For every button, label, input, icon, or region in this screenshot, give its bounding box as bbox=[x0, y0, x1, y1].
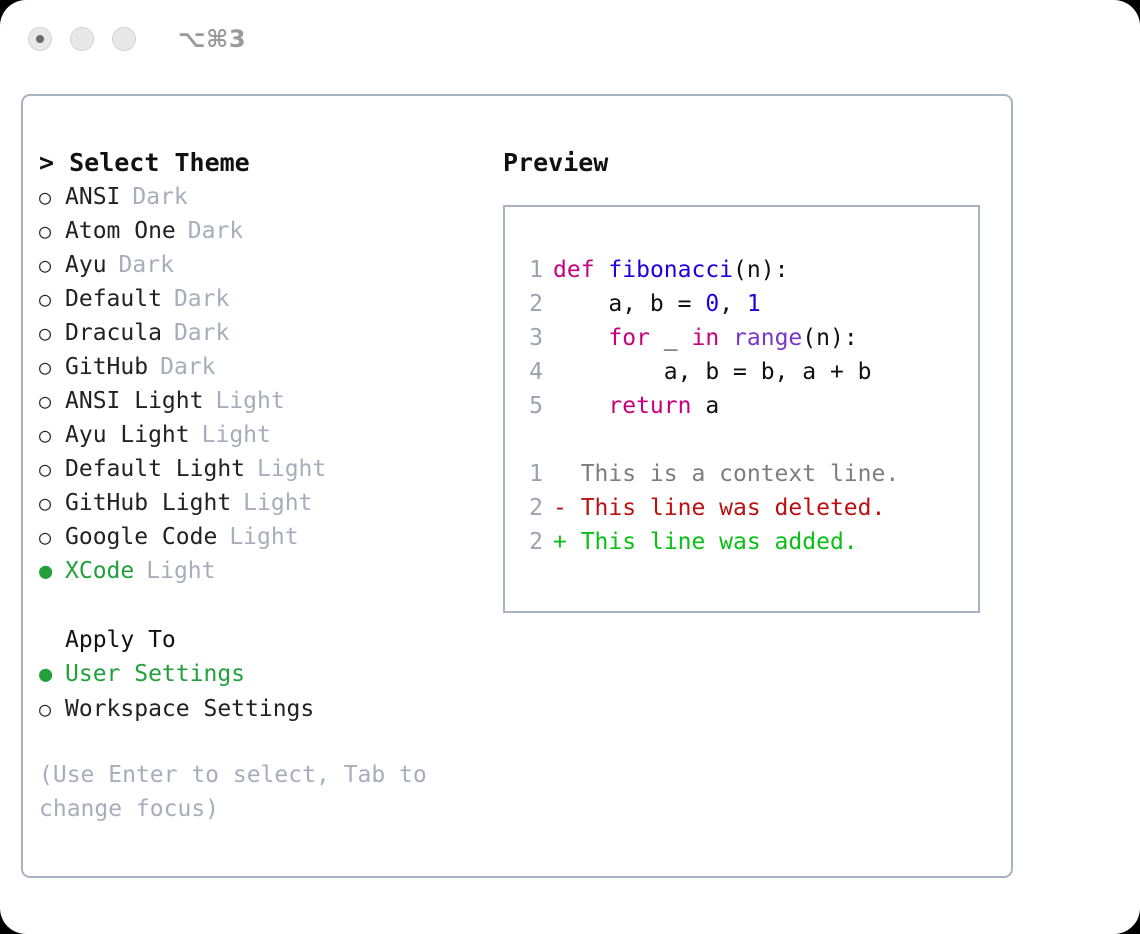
diff-sample: 1 This is a context line.2- This line wa… bbox=[513, 457, 978, 559]
diff-text: + This line was added. bbox=[553, 525, 858, 559]
code-token-plain: , bbox=[719, 291, 747, 317]
code-token-plain bbox=[553, 393, 608, 419]
code-line: 3 for _ in range(n): bbox=[513, 321, 978, 355]
theme-option-label: ANSI bbox=[65, 180, 120, 214]
apply-to-section: Apply To ●User Settings○Workspace Settin… bbox=[39, 623, 494, 726]
apply-to-list: ●User Settings○Workspace Settings bbox=[39, 657, 494, 726]
radio-unselected-icon: ○ bbox=[39, 282, 65, 316]
window-controls bbox=[28, 27, 136, 51]
radio-unselected-icon: ○ bbox=[39, 180, 65, 214]
diff-line-ctx: 1 This is a context line. bbox=[513, 457, 978, 491]
theme-option-variant: Dark bbox=[174, 282, 229, 316]
code-spacer bbox=[513, 423, 978, 457]
radio-unselected-icon: ○ bbox=[39, 418, 65, 452]
apply-to-heading: Apply To bbox=[39, 623, 494, 657]
code-line: 5 return a bbox=[513, 389, 978, 423]
theme-option-variant: Dark bbox=[188, 214, 243, 248]
theme-option-label: Google Code bbox=[65, 520, 217, 554]
radio-unselected-icon: ○ bbox=[39, 452, 65, 486]
theme-list: ○ANSIDark○Atom OneDark○AyuDark○DefaultDa… bbox=[39, 180, 494, 589]
theme-option-label: Dracula bbox=[65, 316, 162, 350]
radio-unselected-icon: ○ bbox=[39, 520, 65, 554]
line-number: 2 bbox=[513, 491, 543, 525]
line-number: 5 bbox=[513, 389, 543, 423]
theme-option-dracula[interactable]: ○DraculaDark bbox=[39, 316, 494, 350]
line-number: 2 bbox=[513, 525, 543, 559]
line-number: 1 bbox=[513, 253, 543, 287]
apply-to-option-workspace-settings[interactable]: ○Workspace Settings bbox=[39, 692, 494, 726]
theme-option-github-light[interactable]: ○GitHub LightLight bbox=[39, 486, 494, 520]
theme-option-label: XCode bbox=[65, 554, 134, 588]
select-theme-heading: > Select Theme bbox=[39, 146, 494, 180]
radio-unselected-icon: ○ bbox=[39, 316, 65, 350]
apply-to-option-label: User Settings bbox=[65, 657, 245, 691]
theme-option-label: Default bbox=[65, 282, 162, 316]
theme-option-ansi-light[interactable]: ○ANSI LightLight bbox=[39, 384, 494, 418]
code-token-plain: (n): bbox=[733, 257, 788, 283]
radio-unselected-icon: ○ bbox=[39, 248, 65, 282]
theme-option-default[interactable]: ○DefaultDark bbox=[39, 282, 494, 316]
code-token-num: 0 bbox=[705, 291, 719, 317]
theme-option-default-light[interactable]: ○Default LightLight bbox=[39, 452, 494, 486]
radio-unselected-icon: ○ bbox=[39, 214, 65, 248]
code-line: 1def fibonacci(n): bbox=[513, 253, 978, 287]
code-token-kw: in bbox=[691, 325, 719, 351]
line-number: 3 bbox=[513, 321, 543, 355]
radio-unselected-icon: ○ bbox=[39, 350, 65, 384]
diff-line-add: 2+ This line was added. bbox=[513, 525, 978, 559]
theme-option-variant: Light bbox=[146, 554, 215, 588]
theme-option-xcode[interactable]: ●XCodeLight bbox=[39, 554, 494, 589]
radio-unselected-icon: ○ bbox=[39, 486, 65, 520]
code-text: a, b = b, a + b bbox=[553, 355, 872, 389]
apply-to-option-label: Workspace Settings bbox=[65, 692, 314, 726]
radio-selected-icon: ● bbox=[39, 555, 65, 589]
theme-option-label: Ayu bbox=[65, 248, 107, 282]
code-line: 4 a, b = b, a + b bbox=[513, 355, 978, 389]
theme-option-label: Atom One bbox=[65, 214, 176, 248]
theme-option-ansi[interactable]: ○ANSIDark bbox=[39, 180, 494, 214]
theme-option-label: GitHub bbox=[65, 350, 148, 384]
window-dot-1-icon[interactable] bbox=[28, 27, 52, 51]
code-line: 2 a, b = 0, 1 bbox=[513, 287, 978, 321]
theme-option-ayu[interactable]: ○AyuDark bbox=[39, 248, 494, 282]
code-token-kw: return bbox=[608, 393, 691, 419]
diff-text: - This line was deleted. bbox=[553, 491, 885, 525]
code-token-builtin: range bbox=[733, 325, 802, 351]
theme-option-label: GitHub Light bbox=[65, 486, 231, 520]
theme-option-variant: Light bbox=[229, 520, 298, 554]
line-number: 2 bbox=[513, 287, 543, 321]
code-token-plain: (n): bbox=[802, 325, 857, 351]
theme-option-variant: Light bbox=[243, 486, 312, 520]
keyboard-hint: (Use Enter to select, Tab to change focu… bbox=[39, 758, 449, 826]
theme-option-github[interactable]: ○GitHubDark bbox=[39, 350, 494, 384]
code-token-kw: def bbox=[553, 257, 595, 283]
theme-selector-column: > Select Theme ○ANSIDark○Atom OneDark○Ay… bbox=[39, 146, 494, 826]
code-sample: 1def fibonacci(n):2 a, b = 0, 13 for _ i… bbox=[513, 253, 978, 423]
window-dot-2-icon[interactable] bbox=[70, 27, 94, 51]
preview-box: 1def fibonacci(n):2 a, b = 0, 13 for _ i… bbox=[503, 205, 980, 613]
code-token-plain: a, b = bbox=[553, 291, 705, 317]
preview-heading: Preview bbox=[503, 146, 998, 180]
theme-option-label: ANSI Light bbox=[65, 384, 203, 418]
theme-option-atom-one[interactable]: ○Atom OneDark bbox=[39, 214, 494, 248]
theme-option-variant: Dark bbox=[174, 316, 229, 350]
app-window: ⌥⌘3 > Select Theme ○ANSIDark○Atom OneDar… bbox=[0, 0, 1140, 934]
line-number: 1 bbox=[513, 457, 543, 491]
theme-option-variant: Dark bbox=[160, 350, 215, 384]
code-token-plain: _ bbox=[650, 325, 692, 351]
theme-option-variant: Light bbox=[257, 452, 326, 486]
theme-option-variant: Dark bbox=[119, 248, 174, 282]
window-title: ⌥⌘3 bbox=[178, 25, 246, 53]
code-token-plain: a, b = b, a + b bbox=[553, 359, 872, 385]
theme-option-variant: Light bbox=[202, 418, 271, 452]
code-token-plain bbox=[595, 257, 609, 283]
line-number: 4 bbox=[513, 355, 543, 389]
code-token-num: 1 bbox=[747, 291, 761, 317]
theme-option-ayu-light[interactable]: ○Ayu LightLight bbox=[39, 418, 494, 452]
radio-unselected-icon: ○ bbox=[39, 692, 65, 726]
theme-option-label: Default Light bbox=[65, 452, 245, 486]
preview-column: Preview 1def fibonacci(n):2 a, b = 0, 13… bbox=[503, 146, 998, 613]
code-token-plain: a bbox=[691, 393, 719, 419]
code-token-plain bbox=[553, 325, 608, 351]
code-text: return a bbox=[553, 389, 719, 423]
diff-line-del: 2- This line was deleted. bbox=[513, 491, 978, 525]
apply-to-option-user-settings[interactable]: ●User Settings bbox=[39, 657, 494, 692]
radio-selected-icon: ● bbox=[39, 658, 65, 692]
theme-option-variant: Dark bbox=[132, 180, 187, 214]
theme-option-google-code[interactable]: ○Google CodeLight bbox=[39, 520, 494, 554]
code-text: for _ in range(n): bbox=[553, 321, 858, 355]
code-text: a, b = 0, 1 bbox=[553, 287, 761, 321]
code-token-fn: fibonacci bbox=[608, 257, 733, 283]
code-text: def fibonacci(n): bbox=[553, 253, 788, 287]
radio-unselected-icon: ○ bbox=[39, 384, 65, 418]
code-token-kw: for bbox=[608, 325, 650, 351]
theme-option-label: Ayu Light bbox=[65, 418, 190, 452]
theme-option-variant: Light bbox=[215, 384, 284, 418]
window-dot-3-icon[interactable] bbox=[112, 27, 136, 51]
code-token-plain bbox=[719, 325, 733, 351]
title-bar: ⌥⌘3 bbox=[0, 0, 1140, 78]
diff-text: This is a context line. bbox=[553, 457, 899, 491]
main-panel: > Select Theme ○ANSIDark○Atom OneDark○Ay… bbox=[21, 94, 1013, 878]
